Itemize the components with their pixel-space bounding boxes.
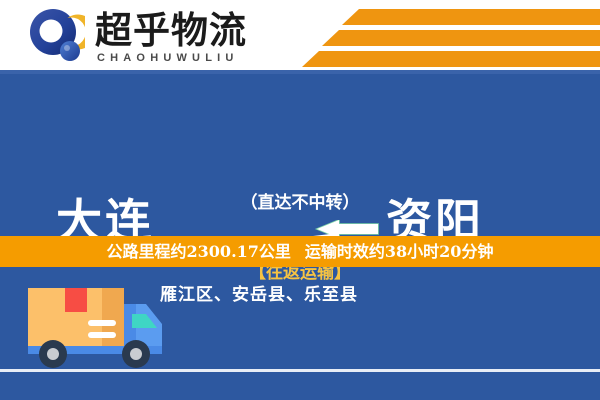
brand-pinyin: CHAOHUWULIU	[97, 52, 265, 65]
stripe-3	[302, 51, 600, 67]
distance-text: 公路里程约2300.17公里	[107, 241, 291, 263]
covered-districts: 雁江区、安岳县、乐至县	[160, 283, 358, 307]
direct-shipping-note: （直达不中转）	[0, 192, 600, 214]
stripe-2	[322, 30, 600, 46]
circle-crescent-logo-icon	[27, 8, 85, 64]
decorative-stripes	[300, 0, 600, 70]
route-section: 大连 资阳 （直达不中转） 【往返运输】	[0, 74, 600, 236]
delivery-truck-icon	[24, 276, 170, 370]
duration-text: 运输时效约38小时20分钟	[305, 241, 494, 263]
route-info-bar: 公路里程约2300.17公里 运输时效约38小时20分钟	[0, 236, 600, 267]
brand-name: 超乎物流	[95, 8, 260, 52]
bottom-divider	[0, 369, 600, 372]
stripe-1	[342, 9, 600, 25]
banner-header: 超乎物流 CHAOHUWULIU	[0, 0, 600, 74]
logistics-route-banner: 超乎物流 CHAOHUWULIU 大连 资阳 （直达不中转）	[0, 0, 600, 400]
